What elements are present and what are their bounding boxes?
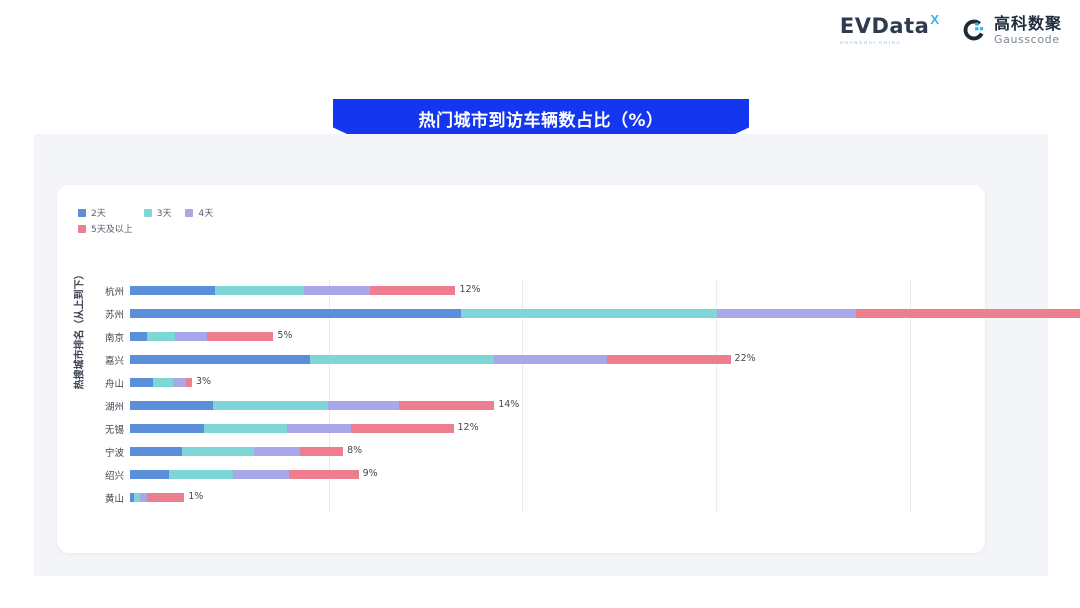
legend-swatch-3days: [144, 209, 152, 217]
evdata-logo: EVData X shanghai china: [840, 16, 939, 45]
bar-segment-4天[interactable]: [175, 332, 208, 341]
gausscode-en-name: Gausscode: [994, 34, 1062, 45]
legend-label-2days: 2天: [91, 206, 106, 219]
bar-segment-3天[interactable]: [182, 447, 254, 456]
chart-legend: 2天 3天 4天 5天及以上: [78, 206, 398, 238]
stacked-bar[interactable]: [130, 355, 731, 364]
y-axis-label-绍兴: 绍兴: [78, 468, 130, 482]
y-axis-label-苏州: 苏州: [78, 307, 130, 321]
bar-segment-5天及以上[interactable]: [370, 286, 455, 295]
bar-track: 1%: [130, 487, 968, 509]
gausscode-g-icon: [961, 17, 987, 43]
stacked-bar[interactable]: [130, 286, 455, 295]
bar-segment-3天[interactable]: [215, 286, 304, 295]
bar-segment-5天及以上[interactable]: [289, 470, 359, 479]
bar-segment-2天[interactable]: [130, 470, 169, 479]
bar-segment-4天[interactable]: [304, 286, 370, 295]
bar-segment-4天[interactable]: [287, 424, 351, 433]
bar-track: 8%: [130, 441, 968, 463]
bar-segment-3天[interactable]: [169, 470, 233, 479]
bar-value-label: 8%: [347, 445, 362, 456]
bar-segment-4天[interactable]: [233, 470, 289, 479]
bar-track: 36%: [130, 303, 968, 325]
stacked-bar[interactable]: [130, 470, 359, 479]
legend-swatch-2days: [78, 209, 86, 217]
legend-swatch-4days: [185, 209, 193, 217]
bar-segment-2天[interactable]: [130, 309, 461, 318]
bar-segment-3天[interactable]: [310, 355, 494, 364]
stacked-bar[interactable]: [130, 493, 184, 502]
chart-plot-area: 热搜城市排名（从上到下） 杭州12%苏州36%南京5%嘉兴22%舟山3%湖州14…: [78, 280, 968, 512]
chart-row: 舟山3%: [78, 372, 968, 394]
bar-segment-5天及以上[interactable]: [186, 378, 192, 387]
legend-swatch-5days-plus: [78, 225, 86, 233]
y-axis-label-湖州: 湖州: [78, 399, 130, 413]
bar-track: 3%: [130, 372, 968, 394]
evdata-word: EVData: [840, 16, 929, 37]
chart-row: 绍兴9%: [78, 464, 968, 486]
chart-row: 无锡12%: [78, 418, 968, 440]
legend-label-3days: 3天: [157, 206, 172, 219]
chart-row: 黄山1%: [78, 487, 968, 509]
bar-segment-2天[interactable]: [130, 401, 213, 410]
logo-bar: EVData X shanghai china 高科数聚 Gausscode: [0, 0, 1080, 60]
bar-segment-2天[interactable]: [130, 286, 215, 295]
bar-segment-4天[interactable]: [173, 378, 187, 387]
bar-value-label: 14%: [498, 399, 519, 410]
y-axis-label-舟山: 舟山: [78, 376, 130, 390]
gausscode-cn-name: 高科数聚: [994, 16, 1062, 32]
y-axis-label-无锡: 无锡: [78, 422, 130, 436]
chart-row: 湖州14%: [78, 395, 968, 417]
page-title: 热门城市到访车辆数占比（%）: [418, 106, 663, 131]
bar-value-label: 22%: [735, 353, 756, 364]
legend-item-4days[interactable]: 4天: [185, 206, 213, 219]
stacked-bar[interactable]: [130, 424, 454, 433]
bar-segment-4天[interactable]: [494, 355, 606, 364]
evdata-wordmark: EVData X: [840, 16, 939, 37]
y-axis-label-黄山: 黄山: [78, 491, 130, 505]
stacked-bar[interactable]: [130, 401, 494, 410]
chart-bars: 杭州12%苏州36%南京5%嘉兴22%舟山3%湖州14%无锡12%宁波8%绍兴9…: [78, 280, 968, 512]
bar-segment-2天[interactable]: [130, 447, 182, 456]
bar-segment-4天[interactable]: [254, 447, 300, 456]
chart-row: 苏州36%: [78, 303, 968, 325]
bar-value-label: 12%: [458, 422, 479, 433]
bar-segment-5天及以上[interactable]: [607, 355, 731, 364]
bar-segment-2天[interactable]: [130, 355, 310, 364]
bar-value-label: 5%: [277, 330, 292, 341]
bar-segment-5天及以上[interactable]: [399, 401, 494, 410]
bar-segment-3天[interactable]: [147, 332, 174, 341]
bar-segment-4天[interactable]: [328, 401, 400, 410]
bar-segment-3天[interactable]: [153, 378, 172, 387]
bar-segment-5天及以上[interactable]: [207, 332, 273, 341]
y-axis-label-南京: 南京: [78, 330, 130, 344]
legend-item-5days-plus[interactable]: 5天及以上: [78, 222, 133, 235]
bar-value-label: 9%: [363, 468, 378, 479]
chart-row: 宁波8%: [78, 441, 968, 463]
bar-value-label: 1%: [188, 491, 203, 502]
y-axis-label-宁波: 宁波: [78, 445, 130, 459]
y-axis-label-嘉兴: 嘉兴: [78, 353, 130, 367]
legend-item-2days[interactable]: 2天: [78, 206, 106, 219]
bar-segment-4天[interactable]: [717, 309, 856, 318]
bar-track: 22%: [130, 349, 968, 371]
bar-segment-3天[interactable]: [204, 424, 287, 433]
bar-track: 5%: [130, 326, 968, 348]
y-axis-label-杭州: 杭州: [78, 284, 130, 298]
bar-segment-3天[interactable]: [213, 401, 327, 410]
legend-item-3days[interactable]: 3天: [144, 206, 172, 219]
bar-track: 14%: [130, 395, 968, 417]
gausscode-logo: 高科数聚 Gausscode: [961, 16, 1062, 45]
stacked-bar[interactable]: [130, 378, 192, 387]
stacked-bar[interactable]: [130, 332, 273, 341]
legend-row-top: 2天 3天 4天: [78, 206, 398, 219]
stacked-bar[interactable]: [130, 309, 1080, 318]
legend-label-4days: 4天: [198, 206, 213, 219]
bar-track: 12%: [130, 418, 968, 440]
bar-segment-3天[interactable]: [461, 309, 717, 318]
bar-track: 9%: [130, 464, 968, 486]
chart-row: 杭州12%: [78, 280, 968, 302]
bar-value-label: 3%: [196, 376, 211, 387]
bar-segment-5天及以上[interactable]: [351, 424, 454, 433]
bar-segment-2天[interactable]: [130, 424, 204, 433]
bar-segment-5天及以上[interactable]: [856, 309, 1080, 318]
evdata-tagline: shanghai china: [840, 40, 901, 45]
legend-row-bottom: 5天及以上: [78, 222, 398, 235]
chart-row: 南京5%: [78, 326, 968, 348]
bar-segment-5天及以上[interactable]: [147, 493, 184, 502]
gausscode-text: 高科数聚 Gausscode: [994, 16, 1062, 45]
chart-row: 嘉兴22%: [78, 349, 968, 371]
bar-segment-4天[interactable]: [140, 493, 148, 502]
bar-segment-2天[interactable]: [130, 378, 153, 387]
stacked-bar[interactable]: [130, 447, 343, 456]
bar-segment-2天[interactable]: [130, 332, 147, 341]
evdata-superscript-icon: X: [930, 13, 939, 26]
bar-segment-5天及以上[interactable]: [300, 447, 343, 456]
bar-value-label: 12%: [459, 284, 480, 295]
legend-label-5days-plus: 5天及以上: [91, 222, 133, 235]
bar-track: 12%: [130, 280, 968, 302]
